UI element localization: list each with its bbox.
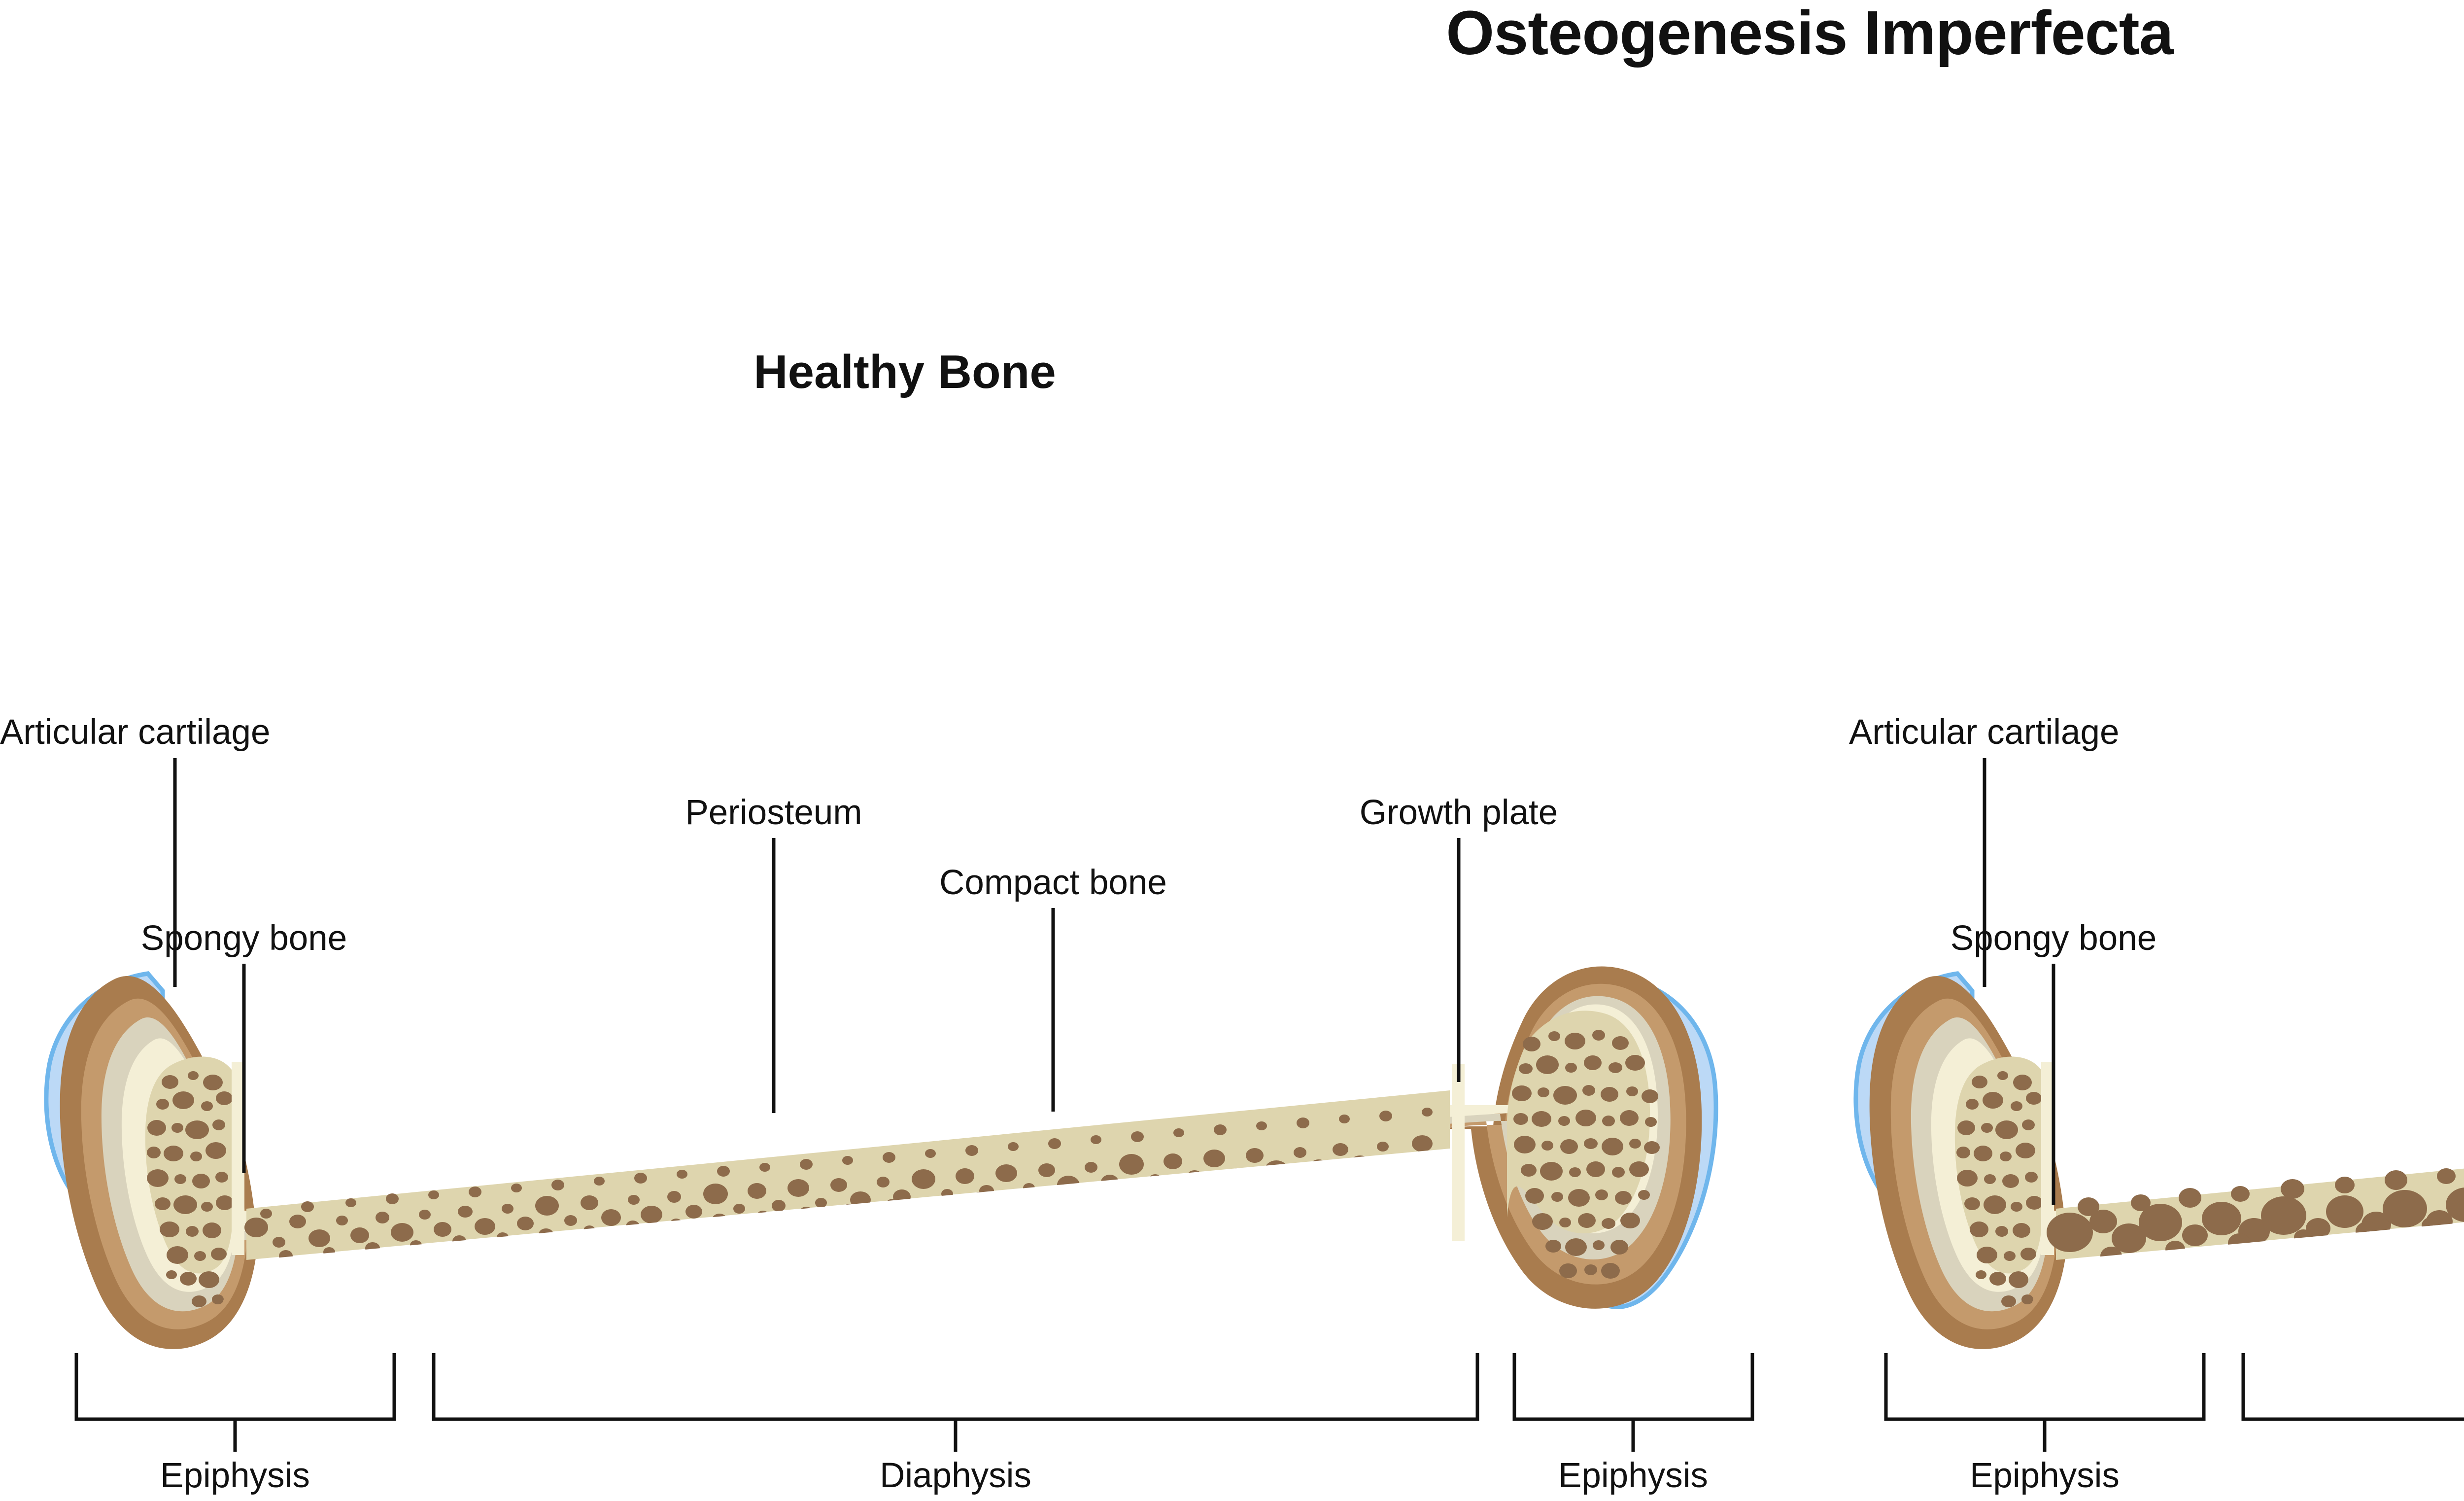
label-articular-cartilage-brittle: Articular cartilage bbox=[1849, 715, 2119, 750]
label-compact-bone-healthy: Compact bone bbox=[939, 865, 1167, 900]
bracket-label-diaphysis-healthy: Diaphysis bbox=[880, 1458, 1031, 1493]
label-articular-cartilage-healthy: Articular cartilage bbox=[0, 715, 270, 750]
brackets-brittle bbox=[1886, 1353, 2464, 1452]
bracket-epiphysis-left bbox=[76, 1353, 394, 1419]
panel-brittle-bone: Brittle Bone bbox=[1810, 0, 2464, 1501]
bracket-epiphysis-right bbox=[1514, 1353, 1752, 1419]
leader-lines-brittle bbox=[1985, 758, 2464, 1205]
brackets-healthy bbox=[76, 1353, 1752, 1452]
label-growth-plate-healthy: Growth plate bbox=[1360, 795, 1558, 830]
label-spongy-bone-healthy: Spongy bone bbox=[141, 921, 347, 956]
bracket-label-epiphysis-left-brittle: Epiphysis bbox=[1970, 1458, 2120, 1493]
growth-plate-right bbox=[1452, 1064, 1465, 1241]
medullary-cavity-healthy bbox=[244, 1090, 1450, 1262]
label-spongy-bone-brittle: Spongy bone bbox=[1951, 921, 2156, 956]
bracket-diaphysis bbox=[2243, 1353, 2464, 1419]
bracket-label-epiphysis-left-healthy: Epiphysis bbox=[160, 1458, 310, 1493]
medullary-cavity-brittle bbox=[2047, 1090, 2464, 1265]
label-periosteum-healthy: Periosteum bbox=[685, 795, 862, 830]
bracket-diaphysis bbox=[434, 1353, 1477, 1419]
panel-healthy-bone: Healthy Bone bbox=[0, 0, 1810, 1501]
healthy-bone-illustration bbox=[0, 0, 1810, 1501]
bracket-epiphysis-left bbox=[1886, 1353, 2204, 1419]
bracket-label-epiphysis-right-healthy: Epiphysis bbox=[1558, 1458, 1708, 1493]
